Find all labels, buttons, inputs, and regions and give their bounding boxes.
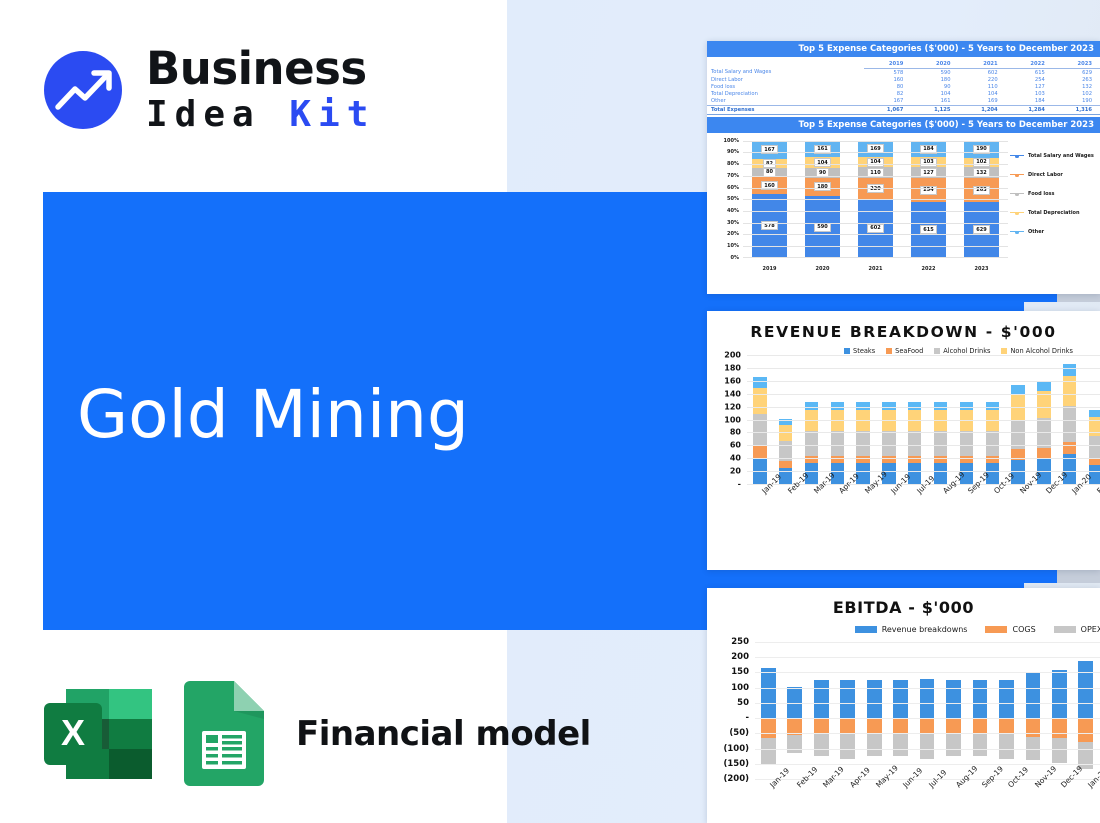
microsoft-excel-icon: X: [44, 681, 152, 786]
chart3-gridline: [755, 688, 1100, 689]
table-cell: 578: [864, 69, 911, 77]
chart2-bar-segment: [753, 377, 766, 388]
chart3-x-tick: Mar-19: [808, 781, 834, 811]
chart2-bar-segment: [1063, 364, 1076, 376]
footer-row: X Financial model: [44, 681, 591, 786]
table-cell: 1,204: [959, 105, 1006, 114]
chart2-bar-segment: [1037, 448, 1050, 458]
chart2-y-tick: 160: [709, 376, 741, 385]
chart2-bar-segment: [934, 463, 947, 484]
chart3-x-axis: Jan-19Feb-19Mar-19Apr-19May-19Jun-19Jul-…: [755, 781, 1100, 811]
table-cell: 90: [911, 83, 958, 90]
chart2-bar-segment: [882, 431, 895, 456]
table-cell: 80: [864, 83, 911, 90]
chart3-y-tick: 50: [707, 698, 749, 708]
table-cell: 602: [959, 69, 1006, 77]
chart3-legend-item: COGS: [985, 625, 1035, 634]
chart2-y-tick: 200: [709, 351, 741, 360]
chart1-legend-swatch: [1010, 155, 1024, 156]
chart3-x-tick: Aug-19: [940, 781, 966, 811]
chart3-y-tick: 200: [707, 652, 749, 662]
brand-line-1: Business: [146, 46, 375, 91]
chart2-plot-area: [747, 355, 1100, 484]
chart2-bar-segment: [805, 456, 818, 464]
table-cell: 102: [1053, 91, 1100, 98]
chart3-y-tick: 250: [707, 637, 749, 647]
chart3-x-tick: Jan-19: [755, 781, 781, 811]
table-cell: 184: [1006, 98, 1053, 106]
chart1-y-tick: 60%: [727, 185, 739, 191]
chart1-y-tick: 30%: [727, 220, 739, 226]
chart2-x-tick: Mar-19: [799, 486, 825, 532]
chart2-x-tick: Jul-19: [902, 486, 928, 532]
chart1-x-tick: 2023: [964, 266, 998, 272]
chart2-x-axis: Jan-19Feb-19Mar-19Apr-19May-19Jun-19Jul-…: [747, 486, 1100, 532]
chart2-y-tick: -: [709, 480, 741, 489]
chart1-legend-item: Food loss: [1010, 191, 1098, 197]
chart3-gridline: [755, 764, 1100, 765]
table-cell: 1,316: [1053, 105, 1100, 114]
footer-label: Financial model: [296, 714, 591, 754]
chart3-x-tick: Apr-19: [834, 781, 860, 811]
chart3-legend-item: OPEX: [1054, 625, 1100, 634]
chart2-bar-segment: [856, 463, 869, 484]
chart2-bar-segment: [908, 463, 921, 484]
chart1-y-tick: 40%: [727, 208, 739, 214]
chart1-y-tick: 80%: [727, 161, 739, 167]
chart1-gridline: [743, 188, 1008, 189]
chart2-x-tick: May-19: [850, 486, 876, 532]
revenue-chart-title: REVENUE BREAKDOWN - $'000: [707, 311, 1100, 341]
chart1-bar-segment: 104: [805, 157, 839, 168]
chart1-legend-label: Total Depreciation: [1028, 210, 1080, 216]
chart2-bar-segment: [960, 431, 973, 456]
chart2-x-tick: Dec-19: [1031, 486, 1057, 532]
chart2-y-tick: 20: [709, 467, 741, 476]
chart1-gridline: [743, 199, 1008, 200]
brand-logo-text: Business Idea Kit: [146, 46, 375, 133]
brand-line-2: Idea Kit: [146, 97, 375, 133]
table-col-header: 2020: [911, 57, 958, 69]
chart1-data-label: 602: [867, 224, 883, 233]
chart1-bar-segment: 102: [964, 158, 998, 167]
svg-text:X: X: [61, 712, 85, 753]
chart1-gridline: [743, 234, 1008, 235]
table-cell: 167: [864, 98, 911, 106]
chart1-x-tick: 2022: [911, 266, 945, 272]
chart1-legend-item: Direct Labor: [1010, 172, 1098, 178]
chart2-bar-segment: [986, 456, 999, 464]
chart3-legend-swatch: [1054, 626, 1076, 633]
chart1-legend-item: Total Depreciation: [1010, 210, 1098, 216]
chart1-plot-area: 1678280160578161104901805901691041102206…: [743, 141, 1008, 258]
table-cell: 1,125: [911, 105, 958, 114]
chart3-legend-swatch: [855, 626, 877, 633]
chart1-legend-label: Other: [1028, 229, 1044, 235]
chart1-y-tick: 10%: [727, 243, 739, 249]
chart1-y-tick: 50%: [727, 196, 739, 202]
chart2-gridline: [747, 471, 1100, 472]
chart1-bar-segment: 190: [964, 141, 998, 158]
chart1-bar-segment: 578: [752, 194, 786, 257]
chart1-data-label: 103: [920, 158, 936, 167]
table-cell: 127: [1006, 83, 1053, 90]
table-cell: 263: [1053, 76, 1100, 83]
chart2-bar-segment: [960, 456, 973, 464]
chart1-legend-item: Total Salary and Wages: [1010, 153, 1098, 159]
chart1-data-label: 102: [973, 158, 989, 167]
chart1-gridline: [743, 211, 1008, 212]
chart2-x-tick: Feb-20: [1083, 486, 1100, 532]
chart2-x-tick: Jan-19: [747, 486, 773, 532]
chart3-legend-label: Revenue breakdowns: [882, 625, 968, 634]
table-cell: 132: [1053, 83, 1100, 90]
chart1-y-tick: 70%: [727, 173, 739, 179]
chart2-x-tick: Jun-19: [876, 486, 902, 532]
chart2-gridline: [747, 407, 1100, 408]
chart3-x-tick: Feb-19: [781, 781, 807, 811]
expense-categories-card[interactable]: Top 5 Expense Categories ($'000) - 5 Yea…: [707, 41, 1100, 294]
google-sheets-icon: [184, 681, 264, 786]
chart3-y-tick: -: [707, 713, 749, 723]
table-row-label: Total Salary and Wages: [707, 69, 864, 77]
chart3-x-tick: Nov-19: [1020, 781, 1046, 811]
chart3-x-tick: Sep-19: [967, 781, 993, 811]
expense-table: 20192020202120222023 Total Salary and Wa…: [707, 57, 1100, 115]
chart2-x-tick: Nov-19: [1005, 486, 1031, 532]
table-cell: 220: [959, 76, 1006, 83]
chart3-y-tick: (100): [707, 744, 749, 754]
table-cell: 161: [911, 98, 958, 106]
table-header-row: 20192020202120222023: [707, 57, 1100, 69]
chart1-gridline: [743, 141, 1008, 142]
chart1-data-label: 104: [814, 158, 830, 167]
chart2-bar-segment: [934, 456, 947, 464]
table-cell: 590: [911, 69, 958, 77]
chart1-data-label: 629: [973, 225, 989, 234]
expense-table-banner: Top 5 Expense Categories ($'000) - 5 Yea…: [707, 41, 1100, 57]
table-cell: 254: [1006, 76, 1053, 83]
table-cell: 104: [959, 91, 1006, 98]
chart1-bar-segment: 103: [911, 157, 945, 166]
chart1-legend-swatch: [1010, 174, 1024, 175]
chart2-gridline: [747, 368, 1100, 369]
chart2-y-tick: 120: [709, 402, 741, 411]
chart1-y-tick: 0%: [731, 255, 740, 261]
chart1-data-label: 615: [920, 225, 936, 234]
chart1-x-axis: 20192020202120222023: [743, 262, 1008, 276]
chart1-bar-segment: 590: [805, 196, 839, 257]
chart2-bar-segment: [908, 431, 921, 456]
brand-idea-text: Idea: [146, 94, 289, 135]
expense-chart-banner: Top 5 Expense Categories ($'000) - 5 Yea…: [707, 117, 1100, 133]
chart2-bar-segment: [1011, 395, 1024, 420]
chart3-gridline: [755, 718, 1100, 719]
table-cell: 629: [1053, 69, 1100, 77]
chart2-bar-segment: [986, 431, 999, 456]
chart2-y-tick: 40: [709, 454, 741, 463]
chart3-gridline: [755, 733, 1100, 734]
chart1-legend-swatch: [1010, 212, 1024, 213]
chart3-x-tick: Dec-19: [1046, 781, 1072, 811]
slide-canvas: Business Idea Kit Gold Mining X: [0, 0, 1100, 823]
chart2-bar-segment: [779, 425, 792, 441]
chart3-x-tick: Oct-19: [993, 781, 1019, 811]
chart2-gridline: [747, 432, 1100, 433]
chart2-bar-segment: [908, 456, 921, 464]
chart2-gridline: [747, 355, 1100, 356]
chart1-bar-segment: 167: [752, 141, 786, 159]
table-row: Total Salary and Wages578590602615629: [707, 69, 1100, 77]
chart2-x-tick: Jan-20: [1057, 486, 1083, 532]
chart3-x-tick: May-19: [861, 781, 887, 811]
chart2-bar-segment: [1089, 436, 1100, 458]
chart1-gridline: [743, 152, 1008, 153]
chart3-plot-area: [755, 642, 1100, 779]
chart2-bar-segment: [856, 431, 869, 456]
chart2-y-tick: 80: [709, 428, 741, 437]
table-cell: 1,067: [864, 105, 911, 114]
chart1-legend-label: Direct Labor: [1028, 172, 1063, 178]
chart1-gridline: [743, 223, 1008, 224]
table-cell: 190: [1053, 98, 1100, 106]
chart3-gridline: [755, 657, 1100, 658]
chart1-y-tick: 100%: [724, 138, 739, 144]
chart3-y-tick: 100: [707, 683, 749, 693]
chart1-bar-segment: 160: [752, 177, 786, 195]
chart1-data-label: 220: [867, 184, 883, 193]
chart3-x-tick: Jan-20: [1073, 781, 1099, 811]
table-cell: 1,284: [1006, 105, 1053, 114]
table-row-label: Total Expenses: [707, 105, 864, 114]
table-col-header: 2022: [1006, 57, 1053, 69]
table-row: Other167161169184190: [707, 98, 1100, 106]
chart2-bar-segment: [1037, 381, 1050, 391]
chart3-x-tick: Jul-19: [914, 781, 940, 811]
chart1-gridline: [743, 164, 1008, 165]
chart3-y-tick: (150): [707, 759, 749, 769]
chart2-gridline: [747, 445, 1100, 446]
chart2-bar-segment: [805, 431, 818, 456]
chart3-y-tick: (200): [707, 774, 749, 784]
chart1-bar-segment: 220: [858, 178, 892, 199]
table-col-header: 2019: [864, 57, 911, 69]
chart1-gridline: [743, 246, 1008, 247]
chart2-gridline: [747, 420, 1100, 421]
chart2-bar-segment: [1089, 458, 1100, 465]
table-col-header: 2023: [1053, 57, 1100, 69]
chart1-gridline: [743, 257, 1008, 258]
brand-kit-text: Kit: [289, 94, 375, 135]
ebitda-chart: (200)(150)(100)(50)-50100150200250 Jan-1…: [707, 636, 1100, 811]
chart1-y-tick: 90%: [727, 149, 739, 155]
chart2-bar-segment: [1089, 410, 1100, 417]
table-cell: 160: [864, 76, 911, 83]
chart2-bar-segment: [753, 388, 766, 414]
chart2-bar-segment: [856, 456, 869, 464]
chart1-bar-segment: 184: [911, 141, 945, 158]
chart2-bar-segment: [831, 431, 844, 456]
chart2-y-tick: 60: [709, 441, 741, 450]
chart2-x-tick: Aug-19: [928, 486, 954, 532]
page-title: Gold Mining: [77, 376, 469, 453]
table-cell: 169: [959, 98, 1006, 106]
table-col-header: 2021: [959, 57, 1006, 69]
chart2-y-tick: 140: [709, 389, 741, 398]
table-col-header: [707, 57, 864, 69]
chart1-bar-segment: 161: [805, 141, 839, 158]
chart1-bar-segment: 169: [858, 141, 892, 157]
chart2-gridline: [747, 394, 1100, 395]
chart1-legend-label: Total Salary and Wages: [1028, 153, 1094, 159]
chart2-x-tick: Feb-19: [773, 486, 799, 532]
brand-logo: Business Idea Kit: [44, 46, 375, 133]
table-cell: 180: [911, 76, 958, 83]
revenue-chart: -20406080100120140160180200 Jan-19Feb-19…: [707, 347, 1100, 532]
table-cell: 110: [959, 83, 1006, 90]
table-row-label: Other: [707, 98, 864, 106]
chart1-data-label: 104: [867, 158, 883, 167]
chart1-bar-segment: 104: [858, 157, 892, 167]
chart2-bar-segment: [1037, 391, 1050, 417]
table-total-row: Total Expenses1,0671,1251,2041,2841,316: [707, 105, 1100, 114]
chart1-y-tick: 20%: [727, 231, 739, 237]
ebitda-card[interactable]: EBITDA - $'000 Revenue breakdownsCOGSOPE…: [707, 588, 1100, 823]
table-row: Food loss8090110127132: [707, 83, 1100, 90]
chart3-legend-label: COGS: [1012, 625, 1035, 634]
table-row-label: Direct Labor: [707, 76, 864, 83]
table-row: Total Depreciation82104104103102: [707, 91, 1100, 98]
chart3-gridline: [755, 642, 1100, 643]
table-cell: 104: [911, 91, 958, 98]
chart2-bar-segment: [1063, 442, 1076, 454]
table-cell: 103: [1006, 91, 1053, 98]
chart2-x-tick: Apr-19: [824, 486, 850, 532]
chart1-x-tick: 2019: [752, 266, 786, 272]
chart3-gridline: [755, 703, 1100, 704]
trending-up-arrow-icon: [44, 51, 122, 129]
chart2-y-tick: 180: [709, 363, 741, 372]
chart3-legend-item: Revenue breakdowns: [855, 625, 968, 634]
chart1-x-tick: 2020: [805, 266, 839, 272]
expense-stacked-chart: 0%10%20%30%40%50%60%70%80%90%100% 167828…: [707, 135, 1100, 280]
chart1-data-label: 590: [814, 223, 830, 232]
chart1-data-label: 160: [761, 181, 777, 190]
chart2-x-tick: Sep-19: [954, 486, 980, 532]
chart1-bar-segment: 254: [911, 178, 945, 201]
chart2-bar-segment: [882, 456, 895, 464]
chart1-legend-swatch: [1010, 193, 1024, 194]
table-cell: 82: [864, 91, 911, 98]
chart2-y-tick: 100: [709, 415, 741, 424]
chart1-legend-swatch: [1010, 231, 1024, 232]
chart1-gridline: [743, 176, 1008, 177]
chart3-x-tick: Jun-19: [887, 781, 913, 811]
chart2-bar-segment: [1063, 406, 1076, 442]
chart2-bar-segment: [831, 456, 844, 464]
chart3-gridline: [755, 672, 1100, 673]
chart2-gridline: [747, 458, 1100, 459]
chart2-bar-segment: [934, 431, 947, 456]
table-cell: 615: [1006, 69, 1053, 77]
chart3-legend-swatch: [985, 626, 1007, 633]
chart2-x-tick: Oct-19: [979, 486, 1005, 532]
table-row-label: Food loss: [707, 83, 864, 90]
table-row: Direct Labor160180220254263: [707, 76, 1100, 83]
chart1-legend-label: Food loss: [1028, 191, 1055, 197]
ebitda-chart-title: EBITDA - $'000: [707, 588, 1100, 617]
chart3-gridline: [755, 749, 1100, 750]
chart2-bar-segment: [753, 446, 766, 458]
chart1-legend-item: Other: [1010, 229, 1098, 235]
chart3-legend-label: OPEX: [1081, 625, 1100, 634]
chart1-legend: Total Salary and WagesDirect LaborFood l…: [1010, 153, 1098, 248]
chart2-gridline: [747, 381, 1100, 382]
ebitda-chart-legend: Revenue breakdownsCOGSOPEX: [707, 625, 1100, 634]
chart1-bar-segment: 602: [858, 199, 892, 257]
table-row-label: Total Depreciation: [707, 91, 864, 98]
revenue-breakdown-card[interactable]: REVENUE BREAKDOWN - $'000 SteaksSeaFoodA…: [707, 311, 1100, 570]
chart3-y-tick: (50): [707, 728, 749, 738]
chart3-y-tick: 150: [707, 667, 749, 677]
chart1-x-tick: 2021: [858, 266, 892, 272]
chart1-y-axis: 0%10%20%30%40%50%60%70%80%90%100%: [707, 135, 741, 280]
